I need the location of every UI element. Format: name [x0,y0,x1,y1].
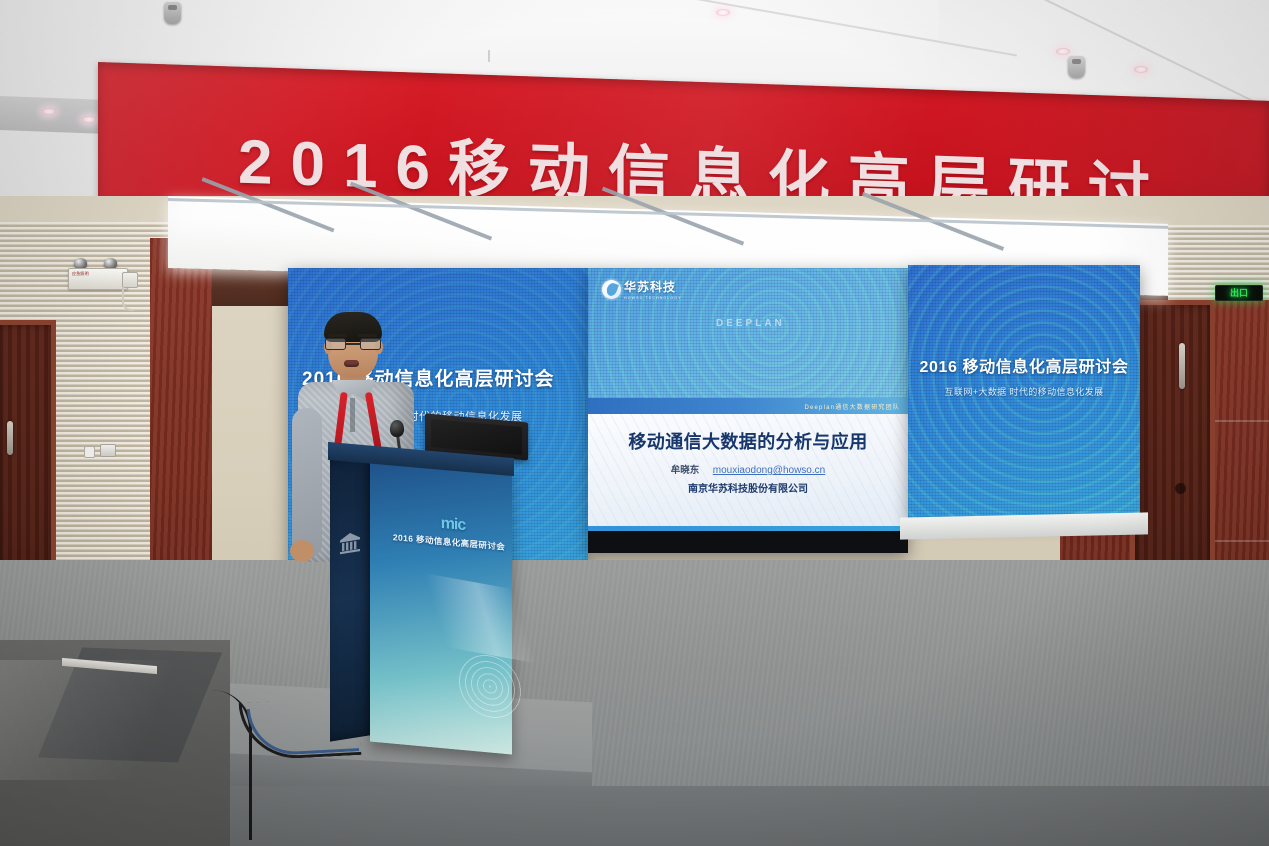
phone-cord [122,287,134,311]
conference-hall-photo: 2016移动信息化高层研讨 应急照明 出口 ↑ [0,0,1269,846]
podium-lectern: mic 2016 移动信息化高层研讨会 [330,452,512,752]
downlight-icon [82,116,96,123]
slide-title: 移动通信大数据的分析与应用 [588,428,908,454]
deeplan-watermark: DEEPLAN [716,318,785,329]
slide-lower-region: 移动通信大数据的分析与应用 牟晓东 mouxiaodong@howso.cn 南… [588,414,908,526]
slide-upper-region: 华苏科技 HOWSO TECHNOLOGY DEEPLAN [588,268,908,410]
slide-band-text: Deeplan通信大数据研究团队 [804,402,900,411]
exit-sign-icon: 出口 [1215,285,1263,301]
smoke-detector-icon [1068,56,1085,78]
howso-logo-mark-icon [602,280,621,299]
speaker-glasses-icon [325,338,381,350]
slide-company-name: 南京华苏科技股份有限公司 [588,480,908,495]
podium-front-panel [370,454,512,755]
slide-author-email[interactable]: mouxiaodong@howso.cn [713,465,825,476]
light-switch-icon[interactable] [84,446,95,458]
right-screen-subtitle: 互联网+大数据 时代的移动信息化发展 [908,385,1140,398]
slide-footer-bar [588,531,908,553]
slide-author-row: 牟晓东 mouxiaodong@howso.cn [588,460,908,478]
glasses-lens [325,338,346,350]
speaker-mouth [344,360,359,367]
microphone-icon [390,420,404,437]
downlight-icon [1056,48,1070,55]
door-handle-icon[interactable] [1179,343,1185,389]
slide-accent-band: Deeplan通信大数据研究团队 [588,398,908,414]
floor-reflection [0,660,230,780]
sprinkler-icon [488,50,490,62]
speaker-hand [290,540,314,562]
howso-logo-en: HOWSO TECHNOLOGY [624,296,682,301]
glasses-lens [360,338,381,350]
led-screen-center-presentation: 华苏科技 HOWSO TECHNOLOGY DEEPLAN Deeplan通信大… [588,268,908,553]
howso-logo-zh: 华苏科技 [624,280,676,294]
speaker-eyebrow [328,334,347,337]
speaker-shirt-placket [350,398,355,432]
exit-sign-text: 出口 [1230,289,1248,298]
mic-logo-text: mic [441,515,466,534]
howso-logo: 华苏科技 HOWSO TECHNOLOGY [602,278,682,301]
door-handle-icon[interactable] [7,421,13,455]
door-knob-icon[interactable] [1175,483,1186,494]
downlight-icon [1134,66,1148,73]
slide-author-name: 牟晓东 [671,465,700,476]
thermostat-icon[interactable] [100,444,116,457]
glasses-bridge [346,343,360,345]
speaker-eyebrow [358,334,377,337]
emergency-light-box: 应急照明 [68,268,128,290]
led-screen-right: 2016 移动信息化高层研讨会 互联网+大数据 时代的移动信息化发展 [908,265,1140,520]
organizer-emblem-icon [338,528,362,556]
emergency-light-label: 应急照明 [69,269,127,278]
downlight-icon [716,9,730,16]
speaker-arm [292,408,322,558]
downlight-icon [42,108,56,115]
smoke-detector-icon [164,2,181,24]
right-screen-title: 2016 移动信息化高层研讨会 [908,353,1140,377]
wall-phone-icon[interactable] [122,272,138,288]
